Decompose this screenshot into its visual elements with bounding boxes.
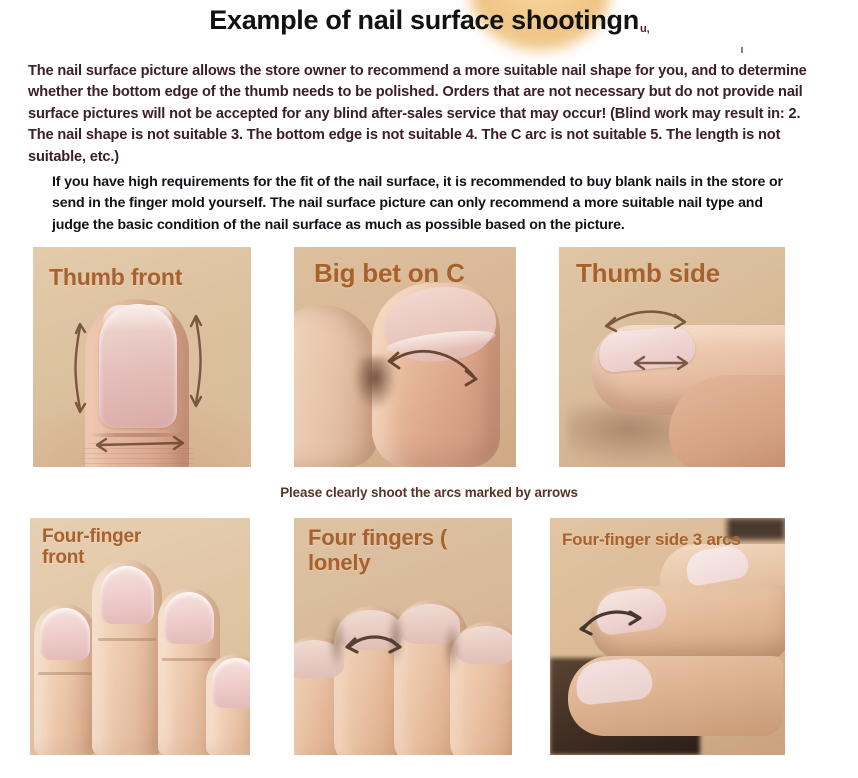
photo-tile-four-finger-front[interactable]: Four-finger front — [30, 518, 250, 755]
page-title: Example of nail surface shootingnu, — [0, 5, 858, 36]
page-title-superscript: u, — [640, 23, 650, 35]
tile-label-four-finger-side: Four-finger side 3 arcs — [562, 530, 741, 549]
nail-2 — [100, 566, 154, 624]
tile-label-big-bet-on-c: Big bet on C — [314, 259, 465, 288]
tile-label-thumb-side: Thumb side — [576, 259, 720, 288]
crease-2 — [98, 638, 156, 641]
tile-label-four-fingers-lonely: Four fingers ( lonely — [308, 526, 458, 575]
photo-tile-four-fingers-lonely[interactable]: Four fingers ( lonely — [294, 518, 512, 755]
nail-3 — [164, 592, 214, 644]
title-band: Example of nail surface shootingnu, — [0, 0, 858, 56]
nail-1 — [40, 608, 90, 660]
stray-mark — [741, 47, 743, 53]
nail-4 — [212, 658, 250, 708]
intro-paragraph: The nail surface picture allows the stor… — [28, 61, 828, 168]
tile-label-thumb-front: Thumb front — [49, 265, 182, 291]
crease-3 — [162, 658, 216, 661]
crease-1 — [38, 672, 92, 675]
arcs-caption: Please clearly shoot the arcs marked by … — [0, 485, 858, 500]
recommendation-paragraph: If you have high requirements for the fi… — [52, 172, 792, 236]
photo-tile-big-bet-on-c[interactable]: Big bet on C — [294, 247, 516, 467]
page-title-text: Example of nail surface shootingn — [209, 5, 639, 35]
arrow-overlay — [550, 518, 785, 755]
photo-tile-thumb-front[interactable]: Thumb front — [33, 247, 251, 467]
photo-tile-four-finger-side[interactable]: Four-finger side 3 arcs — [550, 518, 785, 755]
tile-label-four-finger-front: Four-finger front — [42, 526, 172, 569]
photo-tile-thumb-side[interactable]: Thumb side — [559, 247, 785, 467]
